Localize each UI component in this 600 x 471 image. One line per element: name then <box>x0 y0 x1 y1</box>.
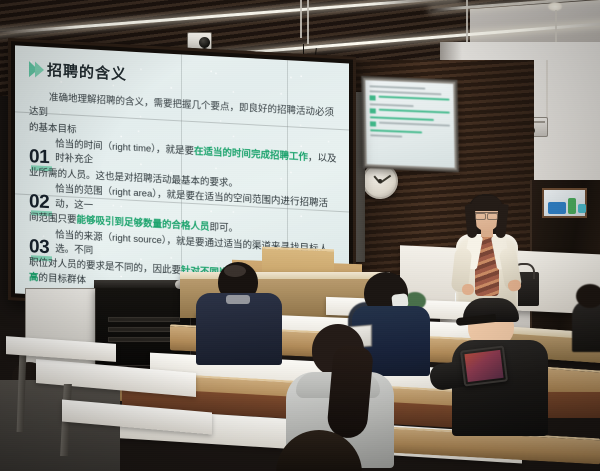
monitor-text-line <box>370 129 422 133</box>
ceiling-hanger-rod <box>300 0 302 38</box>
monitor-bullet-icon <box>370 121 376 126</box>
tablet-screen <box>464 350 503 382</box>
eyeglasses-icon <box>475 212 498 218</box>
monitor-bullet-icon <box>370 95 376 100</box>
hair-highlight <box>224 265 246 277</box>
ceiling-hanger-rod <box>307 0 309 44</box>
shirt-collar <box>226 295 250 304</box>
confidence-monitor <box>361 76 459 172</box>
monitor-text-line <box>379 109 450 114</box>
slide-title: 招聘的含义 <box>47 59 127 84</box>
monitor-text-line <box>370 116 434 121</box>
monitor-text-row <box>370 108 450 116</box>
sign-graphic <box>548 202 566 214</box>
wall-conduit <box>546 60 548 118</box>
confidence-monitor-screen <box>365 80 454 168</box>
sign-graphic <box>568 198 576 214</box>
monitor-text-line <box>370 103 414 107</box>
attendee-head <box>576 284 600 308</box>
monitor-text-line <box>379 96 450 101</box>
presenter-hand-left <box>462 284 474 295</box>
monitor-text-row <box>370 121 450 129</box>
slide-item-number: 02 <box>29 192 49 212</box>
double-chevron-icon <box>29 61 41 78</box>
evacuation-route-sign-icon <box>542 188 587 218</box>
slide-title-row: 招聘的含义 <box>29 58 337 96</box>
presenter-hand-right <box>507 279 522 292</box>
attendee-suited-man <box>196 262 282 366</box>
monitor-text-row <box>370 95 450 103</box>
monitor-text-line <box>379 122 450 127</box>
monitor-text-line <box>369 85 425 89</box>
monitor-text-line <box>369 90 441 95</box>
clock-center-pin <box>378 179 382 183</box>
presenter-hair-side <box>495 204 508 239</box>
lecture-hall-photo: 招聘的含义 准确地理解招聘的含义，需要把握几个要点，即良好的招聘活动必须达到 的… <box>0 0 600 471</box>
monitor-bullet-icon <box>370 108 376 113</box>
slide-item-number: 01 <box>29 147 49 167</box>
tablet-device[interactable] <box>460 345 508 386</box>
attendee-back-row-right <box>572 300 600 352</box>
slide-item-number: 03 <box>29 237 49 257</box>
sign-graphic <box>578 204 586 213</box>
rack-slot <box>108 317 180 322</box>
monitor-text-line <box>370 134 402 137</box>
